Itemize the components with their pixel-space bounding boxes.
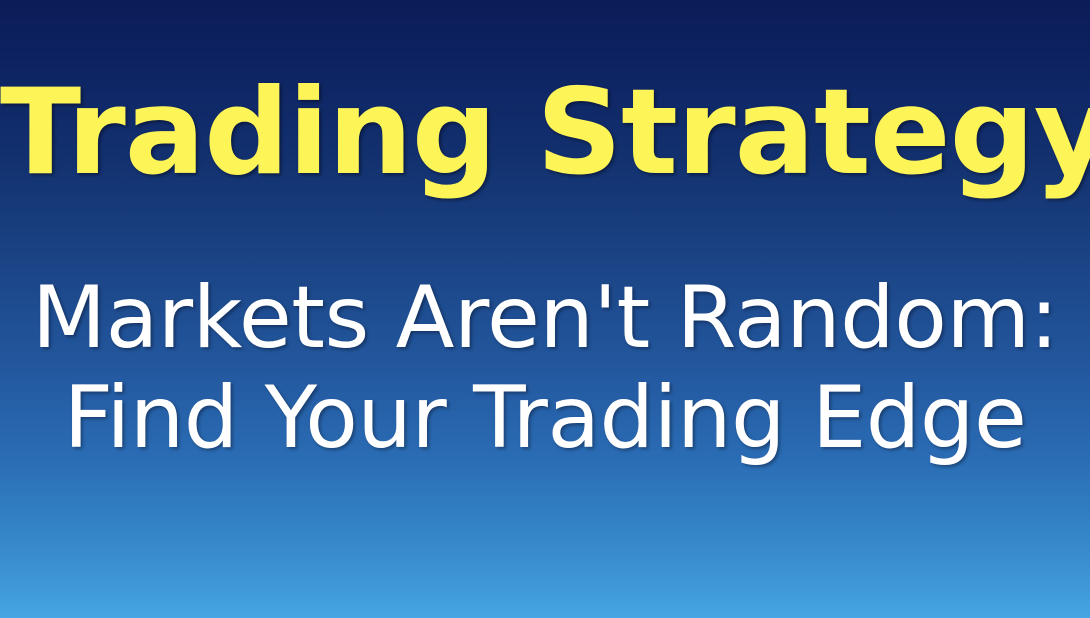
page-title: Trading Strategy [0, 74, 1090, 193]
subtitle-line-1: Markets Aren't Random: [0, 269, 1090, 369]
subtitle-block: Markets Aren't Random: Find Your Trading… [0, 269, 1090, 469]
title-slide: Trading Strategy Markets Aren't Random: … [0, 0, 1090, 618]
slide-content: Trading Strategy Markets Aren't Random: … [0, 0, 1090, 618]
subtitle-line-2: Find Your Trading Edge [0, 369, 1090, 469]
title-block: Trading Strategy [0, 74, 1090, 193]
